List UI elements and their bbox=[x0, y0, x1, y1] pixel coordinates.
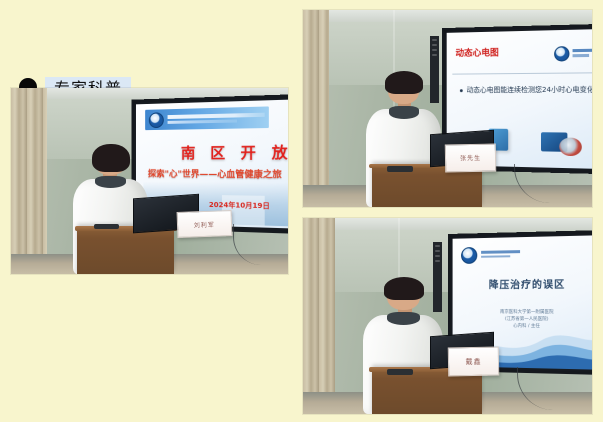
presenter-collar bbox=[387, 312, 419, 324]
podium-left bbox=[77, 226, 174, 274]
lecture-scene-left: 南 区 开 放 日 探索"心"世界——心血管健康之旅 2024年10月19日 刘… bbox=[11, 88, 288, 274]
hospital-emblem-icon bbox=[149, 112, 164, 128]
hospital-logo-corner bbox=[554, 46, 592, 62]
hospital-logo-banner bbox=[145, 107, 269, 131]
window-curtain bbox=[303, 10, 329, 207]
hospital-logo-top-left bbox=[461, 246, 520, 264]
name-placard-text: 张先生 bbox=[460, 153, 481, 163]
presenter-hair bbox=[385, 71, 423, 94]
hospital-emblem-icon bbox=[461, 247, 477, 264]
microphone-bottom-right bbox=[387, 369, 413, 375]
presenter-hair bbox=[384, 277, 425, 300]
slide-subtitle: 探索"心"世界——心血管健康之旅 bbox=[148, 167, 282, 181]
name-placard-text: 刘利军 bbox=[194, 219, 215, 229]
microphone-top-right bbox=[387, 166, 413, 172]
slide-divider bbox=[452, 72, 592, 74]
slide-bullet-text: 动态心电图能连续检测您24小时心电变化 bbox=[460, 85, 592, 95]
lecture-scene-bottom-right: 降压治疗的误区 南京医科大学第一附属医院 (江苏省第一人民医院) 心内科 / 主… bbox=[303, 218, 592, 414]
ceiling-strip bbox=[303, 10, 592, 22]
name-placard-bottom-right: 戴鑫 bbox=[447, 347, 499, 377]
microphone-left bbox=[94, 224, 119, 230]
page-header: 专家科普 bbox=[0, 36, 300, 70]
holter-recorder-image bbox=[540, 131, 567, 151]
name-placard-top-right: 张先生 bbox=[444, 144, 496, 172]
window-curtain bbox=[11, 88, 47, 274]
presenter-collar bbox=[389, 106, 419, 118]
lecture-scene-top-right: 动态心电图 动态心电图能连续检测您24小时心电变化 bbox=[303, 10, 592, 207]
presenter-hair bbox=[92, 144, 130, 173]
hospital-logo-text bbox=[168, 113, 266, 124]
hospital-emblem-icon bbox=[554, 46, 569, 61]
slide-title: 降压治疗的误区 bbox=[452, 275, 592, 291]
photo-top-right[interactable]: 动态心电图 动态心电图能连续检测您24小时心电变化 bbox=[303, 10, 592, 207]
name-placard-text: 戴鑫 bbox=[465, 357, 481, 368]
name-placard-left: 刘利军 bbox=[177, 210, 233, 238]
photo-left[interactable]: 南 区 开 放 日 探索"心"世界——心血管健康之旅 2024年10月19日 刘… bbox=[11, 88, 288, 274]
ceiling-strip bbox=[303, 218, 592, 230]
photo-bottom-right[interactable]: 降压治疗的误区 南京医科大学第一附属医院 (江苏省第一人民医院) 心内科 / 主… bbox=[303, 218, 592, 414]
slide-title: 南 区 开 放 日 bbox=[181, 141, 288, 163]
presenter-collar bbox=[95, 176, 126, 188]
window-curtain bbox=[303, 218, 335, 414]
slide-title: 动态心电图 bbox=[455, 45, 498, 59]
